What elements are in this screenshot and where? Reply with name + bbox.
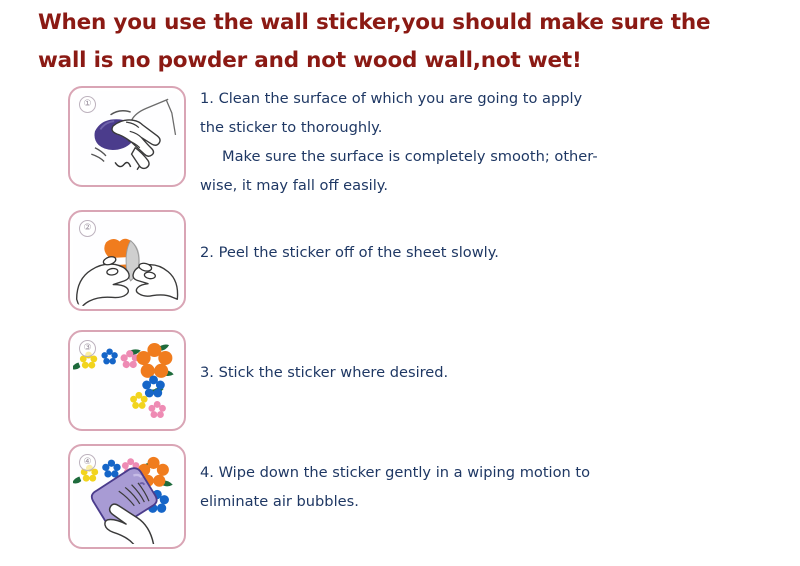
- step-text-1: 1. Clean the surface of which you are go…: [200, 84, 760, 200]
- step-illustration-4: ④: [68, 444, 186, 549]
- step-item-2: ② 2.: [0, 210, 800, 320]
- step-text-line: 2. Peel the sticker off of the sheet slo…: [200, 238, 760, 267]
- step-text-line: 3. Stick the sticker where desired.: [200, 358, 760, 387]
- step-item-1: ①: [0, 86, 800, 196]
- step-text-line: the sticker to thoroughly.: [200, 113, 760, 142]
- step-text-line: 1. Clean the surface of which you are go…: [200, 84, 760, 113]
- step-number-badge-1: ①: [79, 96, 96, 113]
- step-text-3: 3. Stick the sticker where desired.: [200, 358, 760, 387]
- step-item-4: ④: [0, 444, 800, 554]
- heading-line-1: When you use the wall sticker,you should…: [38, 4, 768, 42]
- step-text-4: 4. Wipe down the sticker gently in a wip…: [200, 458, 760, 516]
- step-number-badge-3: ③: [79, 340, 96, 357]
- step-text-line: wise, it may fall off easily.: [200, 171, 760, 200]
- step-illustration-3: ③: [68, 330, 186, 431]
- step-number-badge-2: ②: [79, 220, 96, 237]
- heading-line-2: wall is no powder and not wood wall,not …: [38, 42, 768, 80]
- instruction-heading: When you use the wall sticker,you should…: [38, 4, 768, 80]
- step-illustration-2: ②: [68, 210, 186, 311]
- step-illustration-1: ①: [68, 86, 186, 187]
- step-text-line: 4. Wipe down the sticker gently in a wip…: [200, 458, 760, 487]
- step-text-line: Make sure the surface is completely smoo…: [200, 142, 760, 171]
- step-number-badge-4: ④: [79, 454, 96, 471]
- step-text-line: eliminate air bubbles.: [200, 487, 760, 516]
- step-text-2: 2. Peel the sticker off of the sheet slo…: [200, 238, 760, 267]
- step-item-3: ③: [0, 330, 800, 440]
